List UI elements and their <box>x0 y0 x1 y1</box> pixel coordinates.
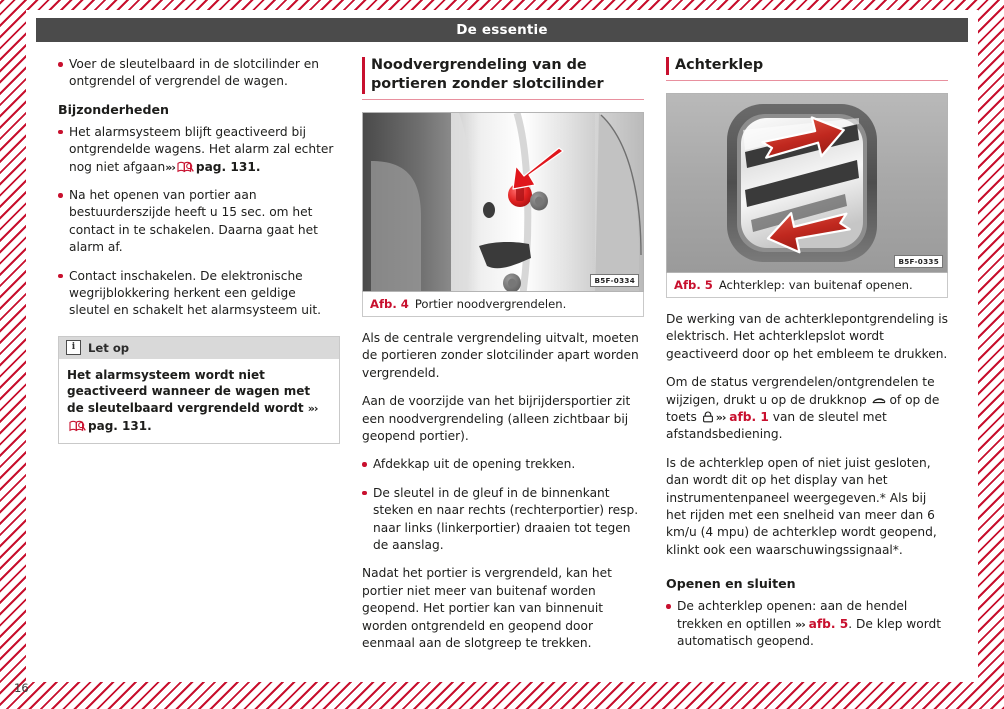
spacer <box>362 317 644 330</box>
list-item: Na het openen van portier aan bestuurder… <box>58 187 340 257</box>
right-paragraph-2: Om de status vergrendelen/ontgrendelen t… <box>666 374 948 444</box>
note-box-let-op: i Let op Het alarmsysteem wordt niet gea… <box>58 336 340 444</box>
section-heading-text: Noodvergrendeling van de portieren zonde… <box>371 56 644 94</box>
book-magnifier-icon <box>69 420 86 432</box>
reference-arrows: »› <box>308 402 318 415</box>
right-paragraph-1: De werking van de achterklepontgrendelin… <box>666 311 948 363</box>
right-subheading: Openen en sluiten <box>666 576 948 591</box>
right-paragraph-3: Is de achterklep open of niet juist gesl… <box>666 455 948 559</box>
right-paragraph-2-ref: afb. 1 <box>729 410 769 424</box>
figure-4-code: B5F-0334 <box>590 274 639 287</box>
figure-5: B5F-0335 Afb. 5 Achterklep: van buitenaf… <box>666 93 948 298</box>
book-magnifier-icon <box>177 161 194 173</box>
lock-icon <box>702 411 715 423</box>
door-jamb-emergency-lock-photo: B5F-0334 <box>362 112 644 292</box>
middle-paragraph-2: Aan de voorzijde van het bijrijdersporti… <box>362 393 644 445</box>
list-item: Het alarmsysteem blijft geactiveerd bij … <box>58 124 340 176</box>
left-bullet-3-text: Contact inschakelen. De elektronische we… <box>69 269 321 318</box>
page-header-title: De essentie <box>456 22 548 38</box>
figure-5-caption: Afb. 5 Achterklep: van buitenaf openen. <box>666 273 948 298</box>
middle-bullet-2-text: De sleutel in de gleuf in de binnenkant … <box>373 486 638 552</box>
note-ref: pag. 131. <box>88 419 152 433</box>
left-bullet-1-ref: pag. 131. <box>196 160 261 174</box>
note-body: Het alarmsysteem wordt niet geactiveerd … <box>59 359 339 443</box>
list-item: Contact inschakelen. De elektronische we… <box>58 268 340 320</box>
middle-bullet-1-text: Afdekkap uit de opening trekken. <box>373 457 575 471</box>
note-header: i Let op <box>59 337 339 359</box>
section-heading-noodvergrendeling: Noodvergrendeling van de portieren zonde… <box>362 56 644 100</box>
left-intro-bullet-text: Voer de sleutelbaard in de slotcilinder … <box>69 57 319 88</box>
column-right: Achterklep <box>666 56 948 656</box>
info-icon-glyph: i <box>72 343 75 352</box>
seat-emblem-tailgate-photo: B5F-0335 <box>666 93 948 273</box>
figure-4-caption-label: Afb. 4 <box>370 297 409 311</box>
section-heading-achterklep: Achterklep <box>666 56 948 81</box>
trunk-button-icon <box>872 394 885 406</box>
page-header-bar: De essentie <box>36 18 968 42</box>
figure-5-caption-text: Achterklep: van buitenaf openen. <box>719 278 913 292</box>
spacer <box>666 298 948 311</box>
figure-4-caption: Afb. 4 Portier noodvergrendelen. <box>362 292 644 317</box>
info-icon: i <box>66 340 81 355</box>
middle-closing-paragraph: Nadat het portier is vergrendeld, kan he… <box>362 565 644 652</box>
list-item: Afdekkap uit de opening trekken. <box>362 456 644 473</box>
reference-arrows: »› <box>716 411 726 424</box>
content-columns: Voer de sleutelbaard in de slotcilinder … <box>58 56 948 656</box>
list-item: De achterklep openen: aan de hendel trek… <box>666 598 948 650</box>
reference-arrows: »› <box>165 161 175 174</box>
middle-paragraph-1: Als de centrale vergrendeling uitvalt, m… <box>362 330 644 382</box>
figure-5-code: B5F-0335 <box>894 255 943 268</box>
note-title: Let op <box>88 341 129 355</box>
column-middle: Noodvergrendeling van de portieren zonde… <box>362 56 644 656</box>
figure-4-caption-text: Portier noodvergrendelen. <box>415 297 566 311</box>
list-item: De sleutel in de gleuf in de binnenkant … <box>362 485 644 555</box>
section-heading-text: Achterklep <box>675 56 948 75</box>
figure-4: B5F-0334 Afb. 4 Portier noodvergrendelen… <box>362 112 644 317</box>
right-bullet-ref: afb. 5 <box>809 617 849 631</box>
list-item: Voer de sleutelbaard in de slotcilinder … <box>58 56 340 91</box>
column-left: Voer de sleutelbaard in de slotcilinder … <box>58 56 340 656</box>
left-subheading: Bijzonderheden <box>58 102 340 117</box>
reference-arrows: »› <box>795 618 805 631</box>
left-bullet-2-text: Na het openen van portier aan bestuurder… <box>69 188 318 254</box>
page-root: De essentie Voer de sleutelbaard in de s… <box>0 0 1004 709</box>
page-number: 16 <box>14 681 29 695</box>
note-body-text: Het alarmsysteem wordt niet geactiveerd … <box>67 368 310 415</box>
right-paragraph-2-part3: van de sleutel met afstandsbediening. <box>666 410 887 441</box>
figure-5-caption-label: Afb. 5 <box>674 278 713 292</box>
